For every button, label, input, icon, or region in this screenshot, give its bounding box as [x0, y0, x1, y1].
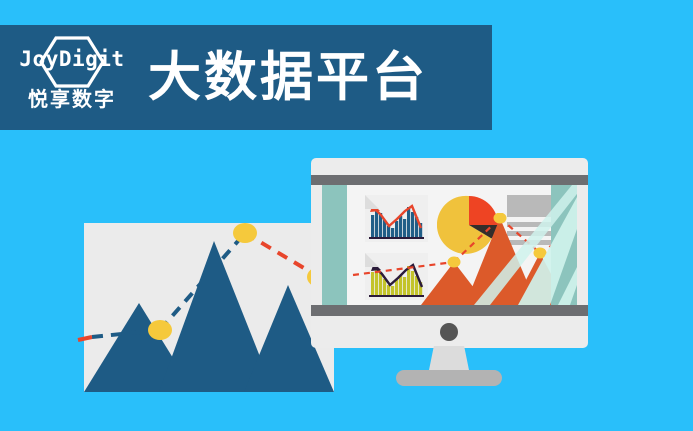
page-title: 大数据平台: [148, 51, 428, 104]
monitor-stand-base: [396, 370, 502, 386]
brand-logo: JoyDigit 悦享数字: [12, 32, 132, 124]
dashboard-mountain-chart: [347, 213, 551, 305]
glare-ray-narrow: [558, 267, 577, 305]
monitor-power-indicator: [440, 323, 458, 341]
dash-trend-node-3: [534, 248, 547, 259]
monitor-screen: [322, 185, 577, 305]
logo-wordmark: JoyDigit: [12, 49, 132, 70]
dash-trend-seg-1: [353, 262, 454, 275]
logo-subtitle: 悦享数字: [12, 90, 132, 110]
monitor-bottom-bar: [311, 305, 588, 316]
monitor-top-bar: [311, 175, 588, 185]
mountain-area-panel: [84, 223, 334, 392]
dashboard-surface: [347, 185, 551, 305]
desktop-monitor: [311, 158, 588, 348]
left-panel-mountain-chart: [84, 223, 334, 392]
dash-trend-node-2: [494, 213, 507, 224]
illustration-canvas: JoyDigit 悦享数字 大数据平台: [0, 0, 693, 431]
dash-trend-node-1: [448, 257, 461, 268]
header-banner: JoyDigit 悦享数字 大数据平台: [0, 25, 492, 130]
